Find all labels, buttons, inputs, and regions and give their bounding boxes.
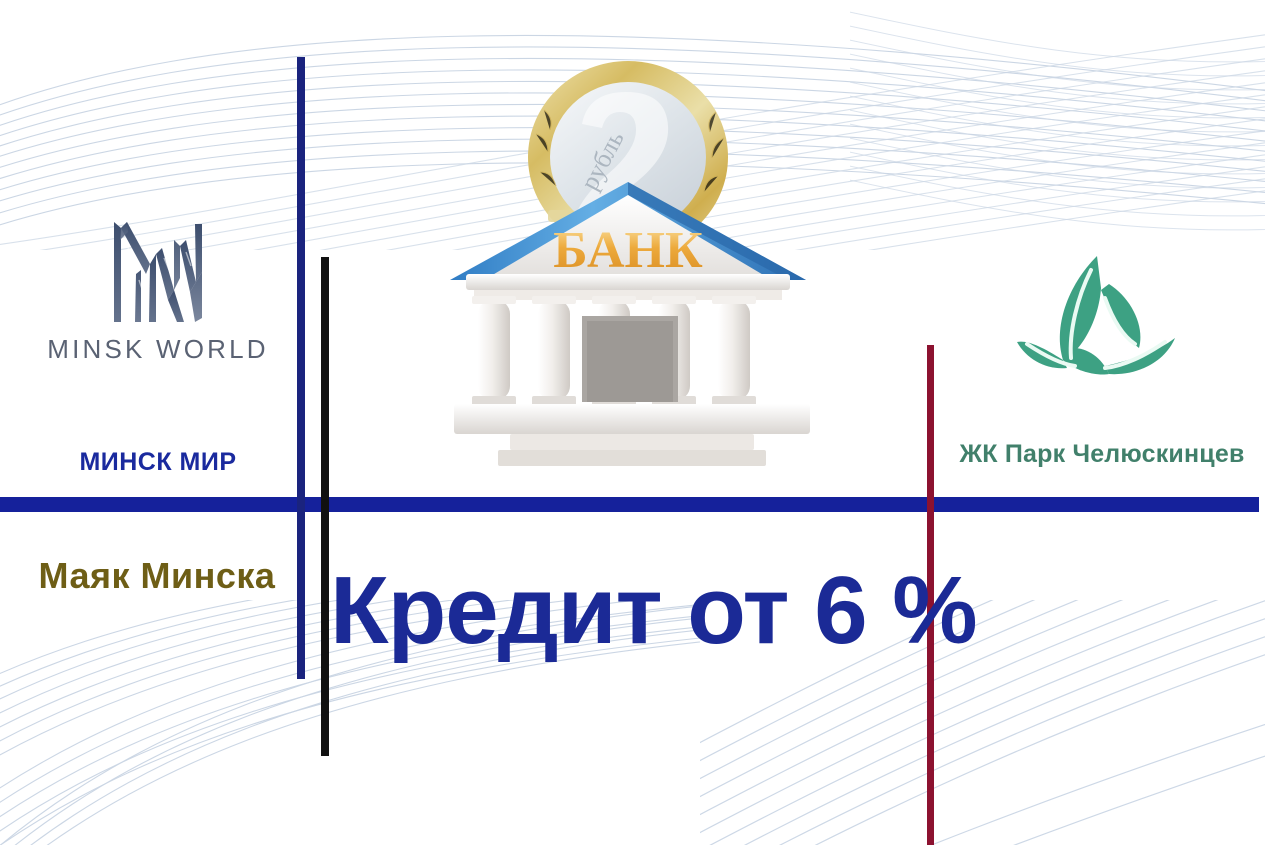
vertical-black-rule xyxy=(321,257,329,756)
mayak-minska-label: Маяк Минска xyxy=(18,555,296,597)
poster-canvas: MINSK WORLD МИНСК МИР Маяк Минска xyxy=(0,0,1265,845)
brand-cyrillic-name: МИНСК МИР xyxy=(22,448,294,477)
horizontal-navy-rule xyxy=(0,497,1259,512)
bank-building-icon: рубль БАНК xyxy=(432,52,832,472)
brand-latin-name: MINSK WORLD xyxy=(22,334,294,365)
vertical-navy-rule xyxy=(297,57,305,679)
leaf-trio-icon xyxy=(1005,248,1195,398)
park-chelyuskintsev-label: ЖК Парк Челюскинцев xyxy=(946,440,1258,469)
minsk-world-brand: MINSK WORLD xyxy=(22,218,294,365)
park-chelyuskintsev-brand xyxy=(950,248,1250,398)
page-title: Кредит от 6 % xyxy=(330,562,930,660)
bank-pediment-label: БАНК xyxy=(553,222,703,279)
mw-monogram-icon xyxy=(106,218,210,326)
